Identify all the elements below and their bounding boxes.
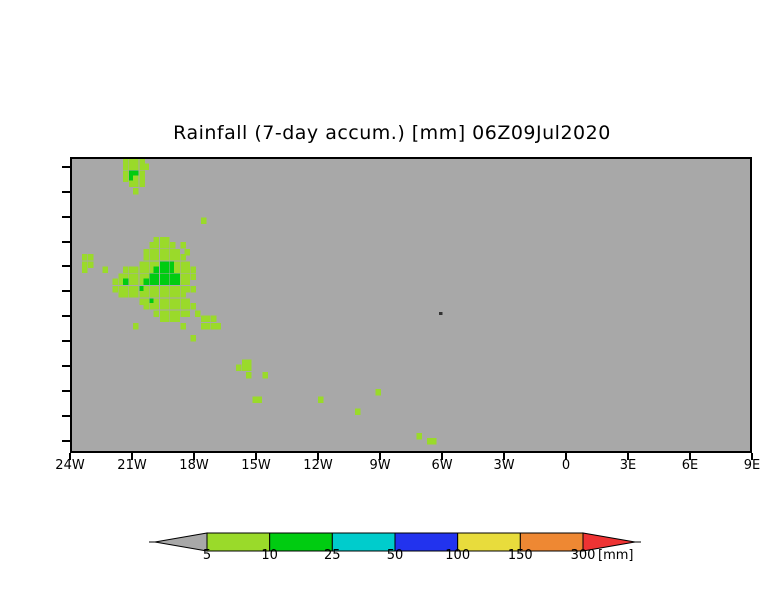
xtick-mark [379,453,381,460]
xtick-label: 6W [431,458,452,473]
xtick-label: 0 [562,458,570,473]
colorbar-tick-label: 100 [445,548,470,563]
xtick-label: 15W [241,458,270,473]
colorbar-tick-label: 25 [324,548,341,563]
xtick-mark [317,453,319,460]
xtick-label: 12W [303,458,332,473]
xtick-label: 21W [117,458,146,473]
ytick-mark [62,440,70,442]
colorbar-tick-label: 300 [571,548,596,563]
ytick-mark [62,390,70,392]
ytick-mark [62,290,70,292]
colorbar-tick-label: 150 [508,548,533,563]
plot-area [70,157,752,453]
xtick-mark [131,453,133,460]
xtick-mark [503,453,505,460]
colorbar-under-arrow [155,533,207,551]
xtick-mark [255,453,257,460]
ytick-mark [62,265,70,267]
xtick-mark [689,453,691,460]
ytick-mark [62,365,70,367]
chart-title: Rainfall (7-day accum.) [mm] 06Z09Jul202… [0,122,784,144]
colorbar-segment [270,533,333,551]
xtick-mark [565,453,567,460]
xtick-mark [751,453,753,460]
ytick-mark [62,415,70,417]
colorbar-unit-label: [mm] [598,548,633,563]
xtick-label: 24W [55,458,84,473]
xtick-mark [69,453,71,460]
colorbar-tick-label: 50 [387,548,404,563]
xtick-label: 6E [682,458,699,473]
colorbar-segment [332,533,395,551]
xtick-label: 9E [744,458,761,473]
xtick-mark [193,453,195,460]
colorbar-tick-label: 5 [203,548,211,563]
xtick-mark [441,453,443,460]
xtick-mark [627,453,629,460]
colorbar-segment [207,533,270,551]
xtick-label: 3W [493,458,514,473]
ytick-mark [62,340,70,342]
ytick-mark [62,216,70,218]
ytick-mark [62,166,70,168]
ytick-mark [62,191,70,193]
xtick-label: 3E [620,458,637,473]
xtick-label: 18W [179,458,208,473]
ytick-mark [62,315,70,317]
colorbar-tick-label: 10 [261,548,278,563]
xtick-label: 9W [369,458,390,473]
ytick-mark [62,241,70,243]
rainfall-raster [72,159,750,451]
